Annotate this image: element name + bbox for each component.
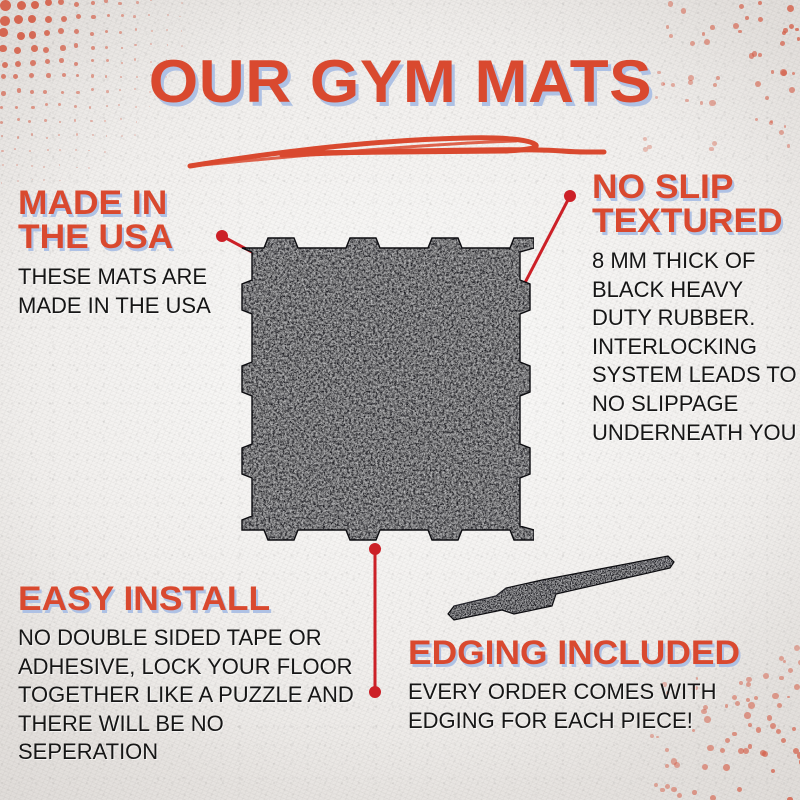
- callout-body-made-in-usa: THESE MATS ARE MADE IN THE USA: [18, 263, 268, 320]
- interlocking-gym-mat-tile: [228, 222, 534, 566]
- rubber-edging-strip: [444, 548, 676, 626]
- infographic-poster: OUR GYM MATS: [0, 0, 800, 800]
- callout-body-no-slip-textured: 8 MM THICK OF BLACK HEAVY DUTY RUBBER. I…: [592, 247, 800, 447]
- callout-heading-made-in-usa: MADE IN THE USA: [18, 186, 278, 254]
- callout-heading-edging-included: EDGING INCLUDED: [408, 636, 772, 670]
- page-title: OUR GYM MATS: [148, 52, 651, 112]
- callout-heading-no-slip-textured: NO SLIP TEXTURED: [592, 170, 800, 238]
- callout-heading-easy-install: EASY INSTALL: [18, 582, 384, 616]
- callout-easy-install: EASY INSTALL NO DOUBLE SIDED TAPE OR ADH…: [18, 582, 370, 767]
- callout-body-easy-install: NO DOUBLE SIDED TAPE OR ADHESIVE, LOCK Y…: [18, 624, 370, 767]
- callout-edging-included: EDGING INCLUDED EVERY ORDER COMES WITH E…: [408, 636, 758, 735]
- callout-made-in-usa: MADE IN THE USA THESE MATS ARE MADE IN T…: [18, 186, 268, 320]
- callout-body-edging-included: EVERY ORDER COMES WITH EDGING FOR EACH P…: [408, 678, 758, 735]
- callout-no-slip-textured: NO SLIP TEXTURED 8 MM THICK OF BLACK HEA…: [592, 170, 800, 447]
- title-block: OUR GYM MATS: [0, 52, 800, 112]
- title-underline-swoosh: [186, 122, 616, 174]
